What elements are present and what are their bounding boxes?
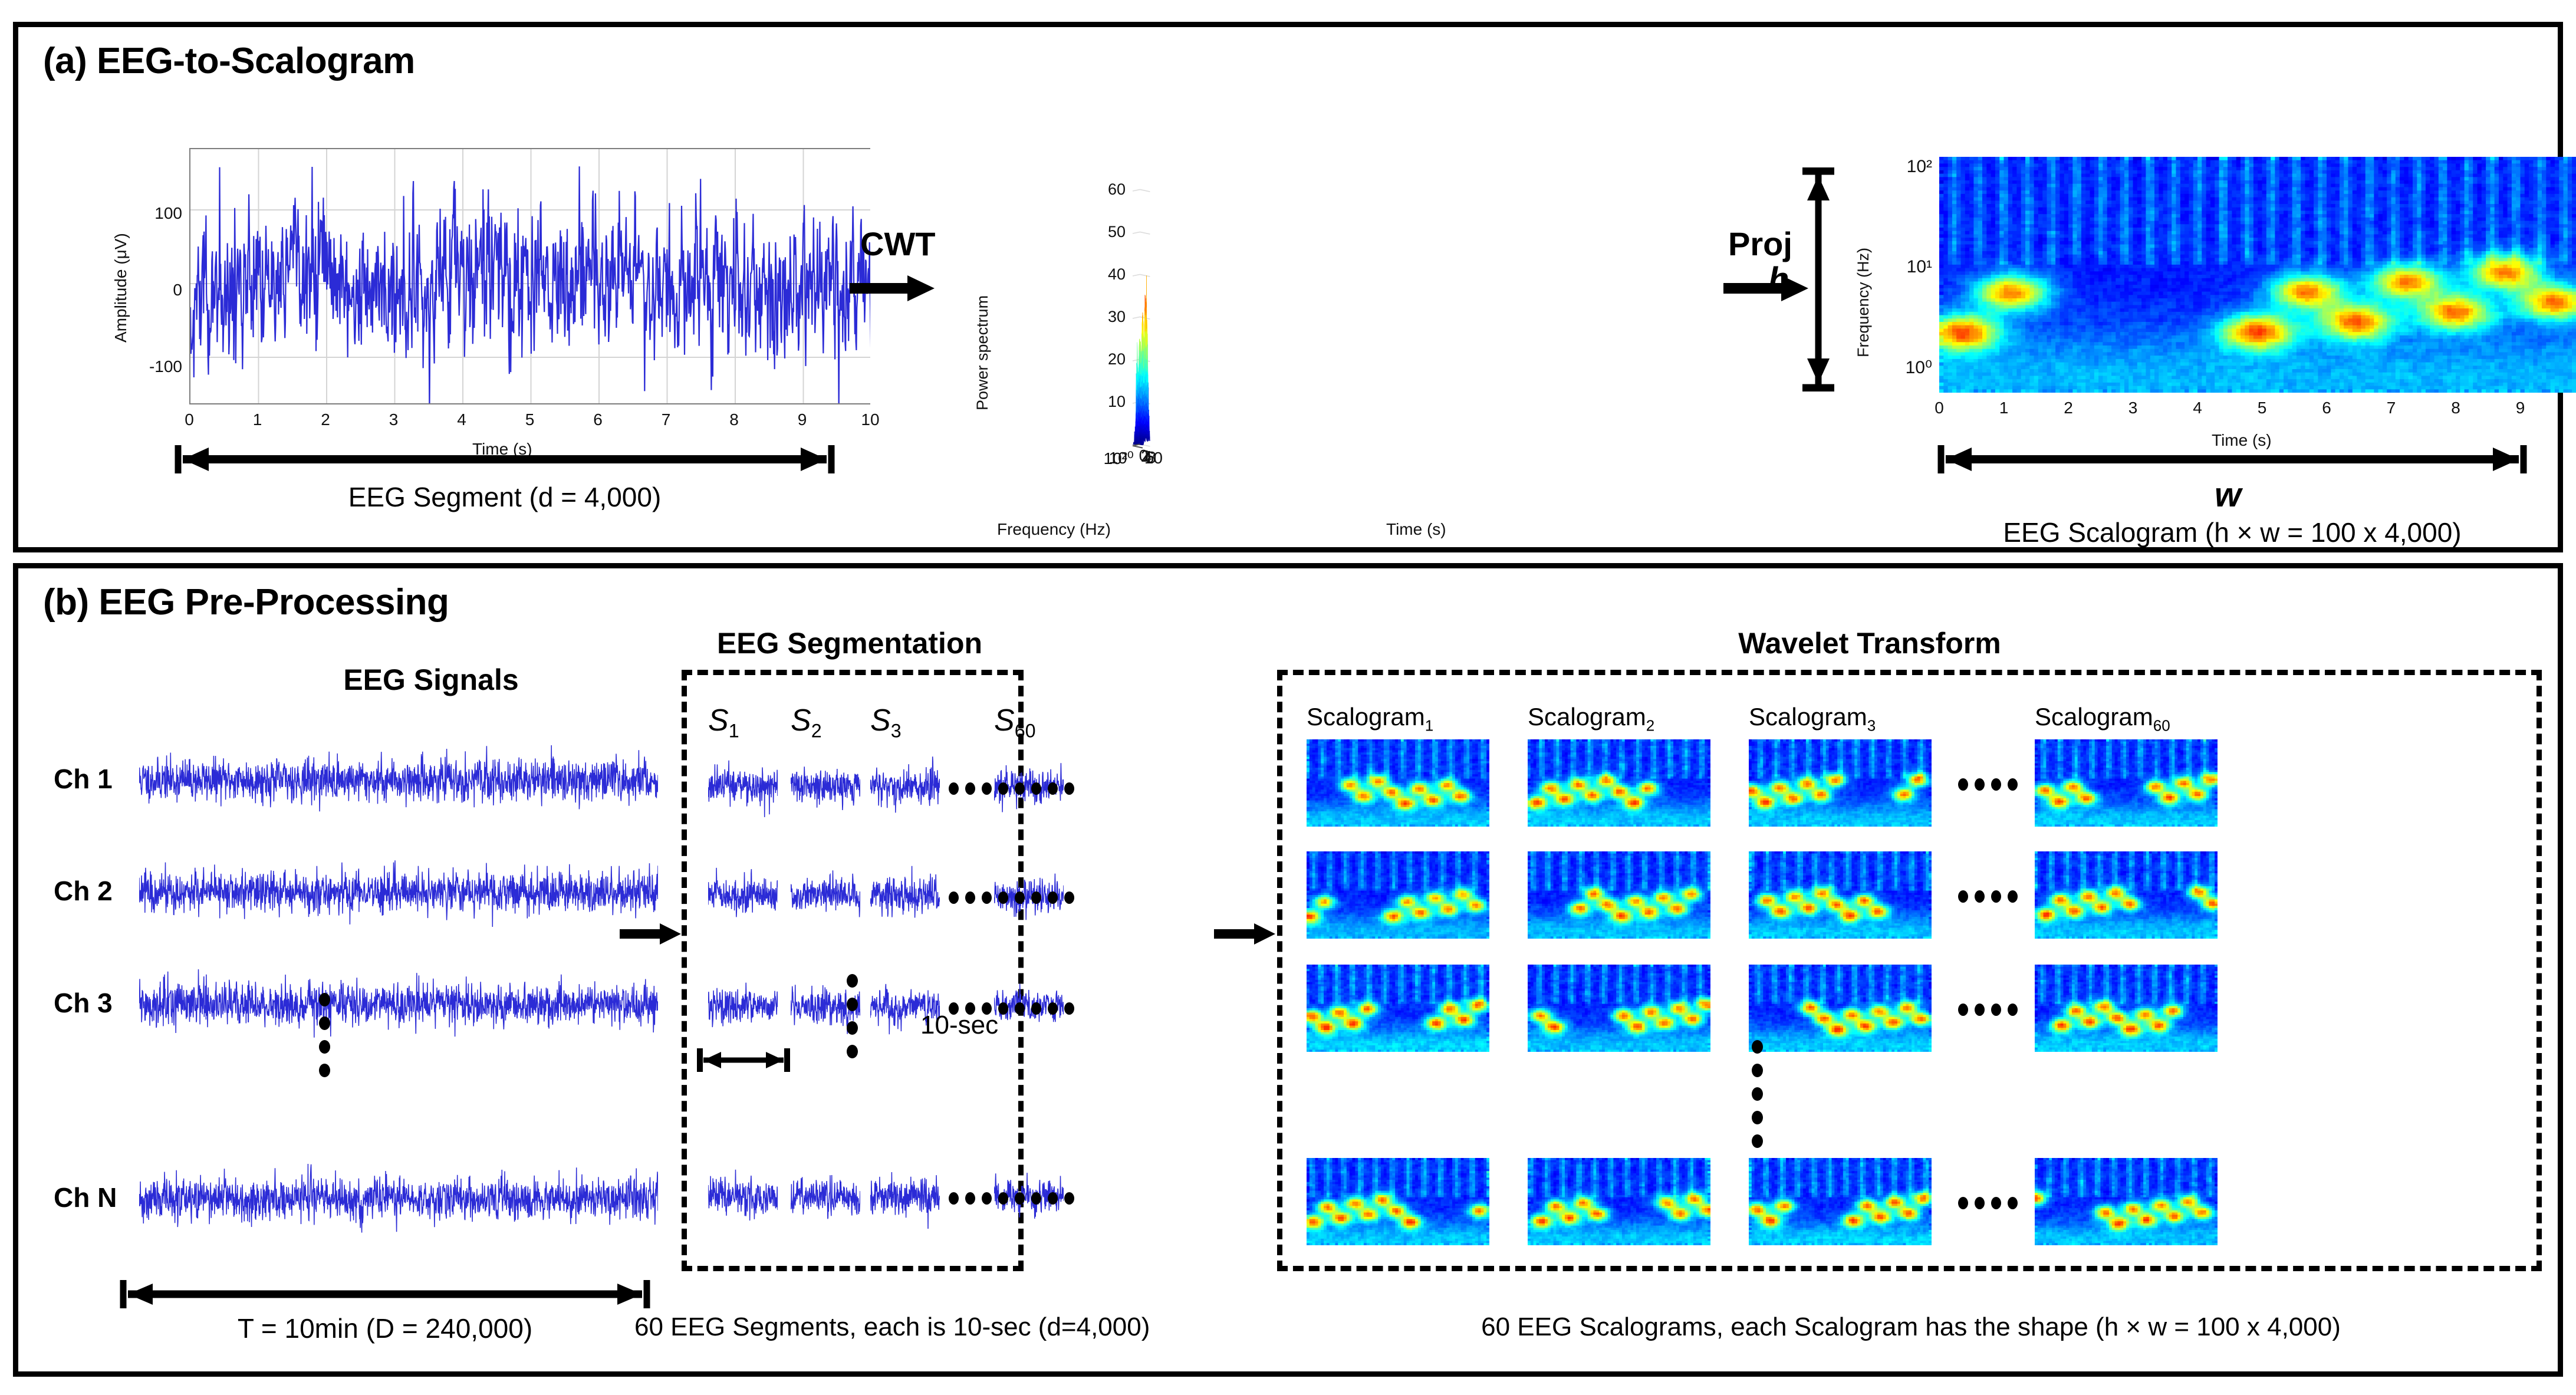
signal-xtick: 0 [169, 410, 210, 429]
segment-label: S1 [708, 703, 739, 742]
scalogram-tile [2035, 851, 2218, 939]
segment-label: S2 [791, 703, 822, 742]
scalogram-heatmap-image [1939, 157, 2576, 393]
wavelet-arrow-icon [1213, 921, 1277, 950]
scalogram-tile [1749, 1158, 1932, 1245]
panel-a: (a) EEG-to-Scalogram Amplitude (μV) 100 … [13, 22, 2563, 552]
scalogram-ellipsis-horizontal [1958, 1004, 2018, 1016]
eeg-signals-title: EEG Signals [225, 663, 637, 697]
panel-b-title: (b) EEG Pre-Processing [43, 581, 449, 623]
total-duration-caption: T = 10min (D = 240,000) [108, 1312, 662, 1344]
total-duration-bar [120, 1279, 650, 1310]
scalogram-ellipsis-horizontal [1958, 778, 2018, 791]
segment-trace [708, 863, 778, 931]
channel-ellipsis [319, 993, 330, 1077]
signal-xtick: 2 [305, 410, 346, 429]
segment-label-base: S [708, 703, 729, 738]
channel-label: Ch 3 [54, 987, 113, 1019]
signal-xtick: 3 [373, 410, 414, 429]
scalogram-label: Scalogram60 [2035, 703, 2170, 735]
scalogram-xtick: 7 [2371, 399, 2412, 417]
figure-root: (a) EEG-to-Scalogram Amplitude (μV) 100 … [0, 0, 2576, 1395]
ten-sec-label: 10-sec [920, 1011, 998, 1040]
scalogram-tile [2035, 1158, 2218, 1245]
cwt-surface-plot: Power spectrum 102030405060 Frequency (H… [938, 116, 1722, 552]
wavelet-transform-title: Wavelet Transform [1398, 626, 2341, 660]
signal-xtick: 10 [850, 410, 891, 429]
channel-label: Ch 2 [54, 875, 113, 907]
scalogram-tile [2035, 739, 2218, 827]
eeg-segmentation-title: EEG Segmentation [643, 626, 1056, 660]
scalogram-label-base: Scalogram [1307, 703, 1425, 731]
wavelet-caption: 60 EEG Scalograms, each Scalogram has th… [1286, 1312, 2536, 1342]
scalogram-tile [1528, 1158, 1710, 1245]
panel-b: (b) EEG Pre-Processing EEG Signals EEG S… [13, 563, 2563, 1377]
segment-label: S60 [994, 703, 1036, 742]
surface-time-tick: 10 [1136, 449, 1171, 468]
segment-label-index: 3 [891, 720, 902, 741]
scalogram-xtick: 9 [2500, 399, 2541, 417]
segment-label-base: S [870, 703, 891, 738]
scalogram-tile [1749, 851, 1932, 939]
scalogram-xtick: 3 [2113, 399, 2154, 417]
segment-trace [708, 1164, 778, 1232]
segment-label-base: S [791, 703, 811, 738]
scalogram-ytick-1: 10⁰ [1867, 357, 1932, 378]
segment-label-index: 2 [811, 720, 822, 741]
scalogram-label-index: 1 [1425, 716, 1433, 734]
scalogram-tile [1307, 739, 1489, 827]
surface-xlabel: Frequency (Hz) [997, 520, 1111, 539]
scalogram-ellipsis-horizontal [1958, 890, 2018, 903]
scalogram-tile [1528, 965, 1710, 1052]
segment-trace [791, 863, 860, 931]
cwt-label: CWT [860, 225, 936, 263]
segment-ellipsis-vertical [847, 974, 858, 1058]
scalogram-xtick: 1 [1983, 399, 2025, 417]
scalogram-caption: EEG Scalogram (h × w = 100 x 4,000) [1855, 516, 2576, 548]
scalogram-width-bar [1937, 443, 2527, 476]
scalogram-label-base: Scalogram [2035, 703, 2153, 731]
signal-xtick: 5 [509, 410, 551, 429]
segment-label-index: 60 [1015, 720, 1036, 741]
panel-a-title: (a) EEG-to-Scalogram [43, 40, 415, 82]
segment-trace [870, 863, 940, 931]
segment-ellipsis-horizontal [949, 782, 1074, 795]
scalogram-xtick: 4 [2177, 399, 2218, 417]
scalogram-ellipsis-vertical [1752, 1040, 1763, 1148]
scalogram-xtick: 2 [2048, 399, 2089, 417]
scalogram-label-base: Scalogram [1528, 703, 1646, 731]
scalogram-tile [1307, 965, 1489, 1052]
signal-xtick: 6 [577, 410, 618, 429]
scalogram-height-bar [1798, 167, 1839, 391]
scalogram-label: Scalogram1 [1307, 703, 1433, 735]
channel-trace [139, 969, 658, 1042]
channel-label: Ch 1 [54, 763, 113, 795]
ten-sec-bar [696, 1047, 791, 1073]
segment-trace [791, 1164, 860, 1232]
segment-trace [870, 1164, 940, 1232]
signal-xtick: 8 [713, 410, 755, 429]
scalogram-label-index: 3 [1867, 716, 1876, 734]
scalogram-xtick: 8 [2435, 399, 2476, 417]
scalogram-tile [1749, 965, 1932, 1052]
scalogram-label: Scalogram3 [1749, 703, 1876, 735]
channel-trace [139, 745, 658, 818]
segment-arrow-icon [618, 921, 682, 950]
signal-xtick: 7 [646, 410, 687, 429]
signal-xtick: 4 [441, 410, 482, 429]
surface-ylabel: Time (s) [1386, 520, 1446, 539]
segmentation-caption: 60 EEG Segments, each is 10-sec (d=4,000… [634, 1312, 1077, 1342]
signal-ytick-neg100: -100 [114, 357, 182, 376]
proj-label: Proj [1728, 225, 1792, 263]
scalogram-tile [1749, 739, 1932, 827]
eeg-segment-caption: EEG Segment (d = 4,000) [175, 481, 835, 513]
scalogram-tile [1528, 851, 1710, 939]
scalogram-xtick: 0 [1919, 399, 1960, 417]
segment-trace [870, 754, 940, 822]
scalogram-ytick-100: 10² [1867, 157, 1932, 177]
segment-ellipsis-horizontal [949, 1192, 1074, 1205]
scalogram-label-base: Scalogram [1749, 703, 1867, 731]
segment-trace [708, 974, 778, 1042]
scalogram-tile [2035, 965, 2218, 1052]
segment-trace [791, 754, 860, 822]
scalogram-xtick: 5 [2242, 399, 2283, 417]
channel-trace [139, 857, 658, 930]
segment-ellipsis-horizontal [949, 891, 1074, 904]
channel-trace [139, 1164, 658, 1236]
scalogram-ellipsis-horizontal [1958, 1197, 2018, 1209]
signal-xtick: 9 [782, 410, 823, 429]
cwt-arrow-icon [848, 272, 937, 308]
scalogram-tile [1528, 739, 1710, 827]
h-label: h [1768, 260, 1789, 300]
signal-ytick-0: 0 [126, 281, 182, 300]
segment-trace [708, 754, 778, 822]
signal-ytick-100: 100 [126, 204, 182, 223]
eeg-segment-dimension-bar [175, 443, 835, 476]
segment-label: S3 [870, 703, 902, 742]
scalogram-label-index: 60 [2153, 716, 2170, 734]
w-label: w [2215, 475, 2241, 515]
scalogram-xtick: 6 [2306, 399, 2347, 417]
scalogram-label: Scalogram2 [1528, 703, 1654, 735]
scalogram-label-index: 2 [1646, 716, 1654, 734]
scalogram-tile [1307, 1158, 1489, 1245]
segment-label-base: S [994, 703, 1015, 738]
scalogram-ytick-10: 10¹ [1867, 257, 1932, 277]
channel-label: Ch N [54, 1182, 117, 1213]
scalogram-tile [1307, 851, 1489, 939]
signal-plotbox [189, 148, 870, 404]
signal-xtick: 1 [237, 410, 278, 429]
segment-label-index: 1 [729, 720, 739, 741]
scalogram-xtick: 10 [2564, 399, 2576, 417]
